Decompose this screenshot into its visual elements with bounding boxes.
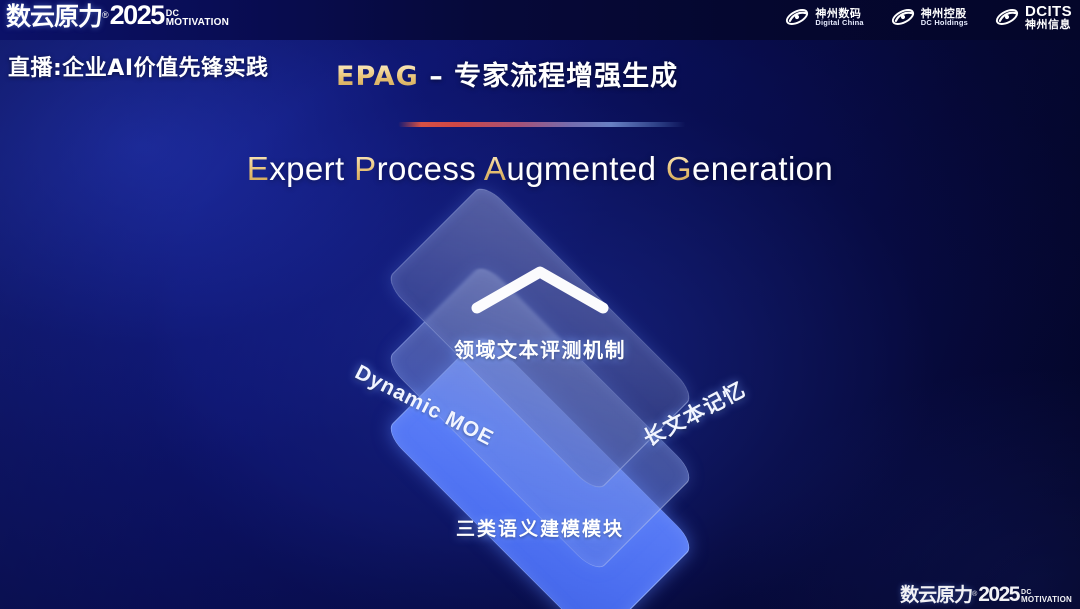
logo-text: 神州数码 Digital China bbox=[815, 8, 863, 27]
brand-watermark-bottom: 数云原力® 2025 DC MOTIVATION bbox=[900, 584, 1072, 605]
brand-dc-line2: MOTIVATION bbox=[166, 18, 229, 28]
logo-text: DCITS 神州信息 bbox=[1025, 4, 1072, 31]
page-subtitle: Expert Process Augmented Generation bbox=[0, 150, 1080, 188]
gradient-divider-bar bbox=[398, 122, 686, 127]
brand-dc-motivation: DC MOTIVATION bbox=[1021, 589, 1072, 605]
logo-name-en: DC Holdings bbox=[921, 19, 968, 27]
registered-mark-icon: ® bbox=[102, 10, 109, 20]
logo-name-cn: 神州信息 bbox=[1025, 19, 1072, 31]
brand-name-cn: 数云原力 bbox=[900, 586, 972, 605]
brand-name-cn: 数云原力 bbox=[6, 4, 102, 29]
registered-mark-icon: ® bbox=[972, 591, 977, 598]
logo-dc-holdings: 神州控股 DC Holdings bbox=[890, 6, 968, 28]
swirl-logo-icon bbox=[890, 6, 916, 28]
swirl-logo-icon bbox=[994, 6, 1020, 28]
brand-year: 2025 bbox=[110, 2, 164, 29]
brand-dc-motivation: DC MOTIVATION bbox=[166, 9, 229, 29]
brand-year: 2025 bbox=[978, 584, 1019, 605]
logo-name-en: DCITS bbox=[1025, 4, 1072, 19]
page-title-chinese: 专家流程增强生成 bbox=[454, 61, 678, 92]
logo-digital-china: 神州数码 Digital China bbox=[784, 6, 863, 28]
subtitle-part: eneration bbox=[692, 150, 833, 187]
brand-dc-line2: MOTIVATION bbox=[1021, 596, 1072, 604]
logo-name-en: Digital China bbox=[815, 19, 863, 27]
partner-logos: 神州数码 Digital China 神州控股 DC Holdings bbox=[784, 4, 1072, 31]
brand-logo-top: 数云原力® 2025 DC MOTIVATION bbox=[6, 2, 229, 29]
logo-text: 神州控股 DC Holdings bbox=[921, 8, 968, 27]
subtitle-part: E bbox=[247, 150, 269, 187]
swirl-logo-icon bbox=[784, 6, 810, 28]
page-title: EPAG – 专家流程增强生成 bbox=[336, 54, 678, 93]
layer-stack-diagram: 领域文本评测机制 Dynamic MOE 长文本记忆 三类语义建模模块 bbox=[286, 226, 794, 562]
subtitle-part: G bbox=[666, 150, 692, 187]
subtitle-part: ugmented bbox=[506, 150, 666, 187]
page-title-dash: – bbox=[419, 61, 454, 92]
subtitle-part: A bbox=[484, 150, 506, 187]
subtitle-part: rocess bbox=[377, 150, 484, 187]
subtitle-part: xpert bbox=[269, 150, 354, 187]
subtitle-part: P bbox=[354, 150, 376, 187]
slide-canvas: 数云原力® 2025 DC MOTIVATION 神州数码 Digital Ch… bbox=[0, 0, 1080, 609]
live-stream-title: 直播:企业AI价值先锋实践 bbox=[8, 50, 269, 82]
logo-dcits: DCITS 神州信息 bbox=[994, 4, 1072, 31]
page-title-acronym: EPAG bbox=[336, 61, 419, 92]
